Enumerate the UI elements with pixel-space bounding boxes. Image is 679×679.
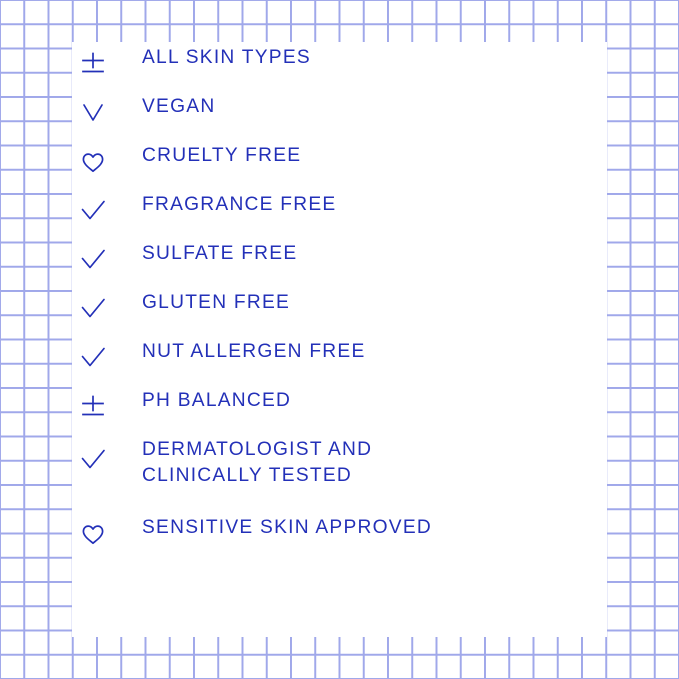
plus-minus-icon bbox=[80, 44, 142, 78]
heart-outline-icon bbox=[80, 142, 142, 176]
claim-label: SULFATE FREE bbox=[142, 240, 297, 267]
claim-item: CRUELTY FREE bbox=[80, 142, 520, 191]
claim-item: FRAGRANCE FREE bbox=[80, 191, 520, 240]
claim-item: PH BALANCED bbox=[80, 387, 520, 436]
checkmark-icon bbox=[80, 240, 142, 274]
claim-label: PH BALANCED bbox=[142, 387, 291, 414]
claim-item: SENSITIVE SKIN APPROVED bbox=[80, 514, 520, 563]
claim-label: GLUTEN FREE bbox=[142, 289, 290, 316]
claim-item: DERMATOLOGIST AND CLINICALLY TESTED bbox=[80, 436, 520, 514]
claim-label: ALL SKIN TYPES bbox=[142, 44, 311, 71]
claim-item: GLUTEN FREE bbox=[80, 289, 520, 338]
checkmark-icon bbox=[80, 289, 142, 323]
claim-label: CRUELTY FREE bbox=[142, 142, 301, 169]
claim-item: NUT ALLERGEN FREE bbox=[80, 338, 520, 387]
claim-label: VEGAN bbox=[142, 93, 215, 120]
checkmark-icon bbox=[80, 191, 142, 225]
claim-item: SULFATE FREE bbox=[80, 240, 520, 289]
claim-label: SENSITIVE SKIN APPROVED bbox=[142, 514, 432, 541]
vegan-v-icon bbox=[80, 93, 142, 127]
plus-minus-icon bbox=[80, 387, 142, 421]
claim-item: ALL SKIN TYPES bbox=[80, 44, 520, 93]
heart-outline-icon bbox=[80, 514, 142, 548]
claim-label: FRAGRANCE FREE bbox=[142, 191, 336, 218]
checkmark-icon bbox=[80, 436, 142, 474]
checkmark-icon bbox=[80, 338, 142, 372]
claim-label: DERMATOLOGIST AND CLINICALLY TESTED bbox=[142, 436, 372, 489]
claim-item: VEGAN bbox=[80, 93, 520, 142]
claims-list: ALL SKIN TYPES VEGAN CRUELTY FREE bbox=[80, 44, 520, 563]
claim-label: NUT ALLERGEN FREE bbox=[142, 338, 366, 365]
product-claims-graphic: ALL SKIN TYPES VEGAN CRUELTY FREE bbox=[0, 0, 679, 679]
